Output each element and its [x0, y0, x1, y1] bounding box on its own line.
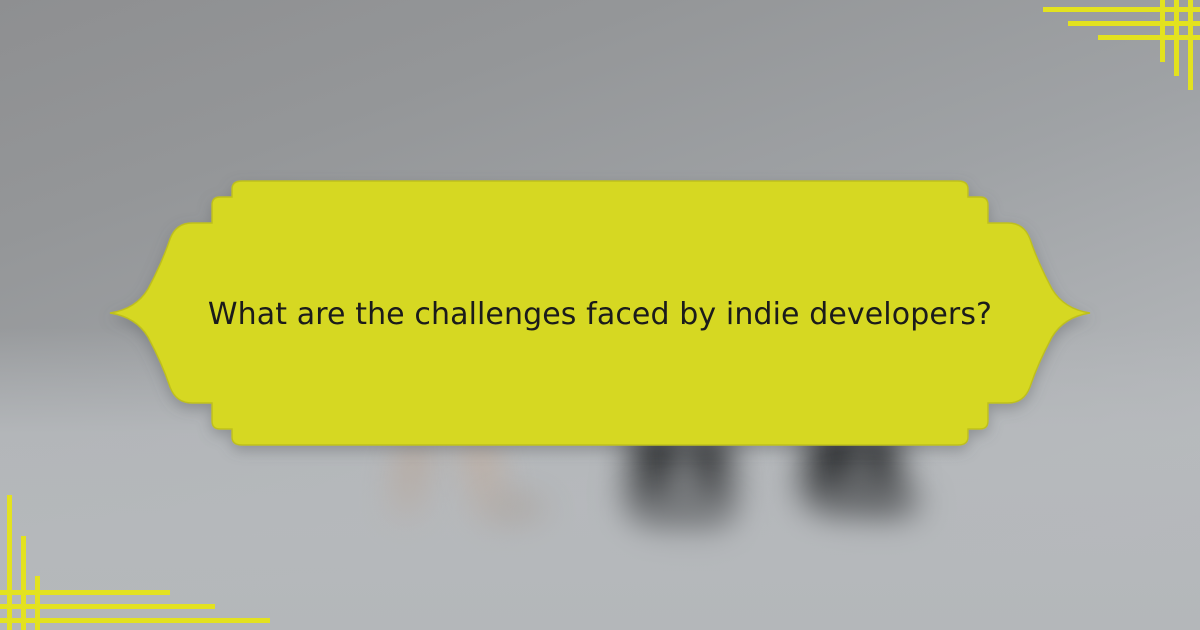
quote-card: What are the challenges faced by indie d… — [0, 0, 1200, 630]
corner-ornament-top-right — [1030, 0, 1200, 90]
bracket-line-horizontal-1 — [0, 618, 270, 623]
quote-text: What are the challenges faced by indie d… — [188, 197, 1012, 434]
bracket-line-vertical-1 — [7, 495, 12, 630]
bracket-line-vertical-1 — [1188, 0, 1193, 90]
bracket-line-horizontal-2 — [0, 604, 215, 609]
bracket-line-horizontal-3 — [1098, 35, 1200, 40]
bracket-line-horizontal-2 — [1068, 21, 1200, 26]
corner-ornament-bottom-left — [0, 440, 370, 630]
bracket-line-vertical-2 — [1174, 0, 1179, 76]
bracket-line-vertical-2 — [21, 536, 26, 630]
bracket-line-vertical-3 — [1160, 0, 1165, 62]
bracket-line-vertical-3 — [35, 576, 40, 630]
